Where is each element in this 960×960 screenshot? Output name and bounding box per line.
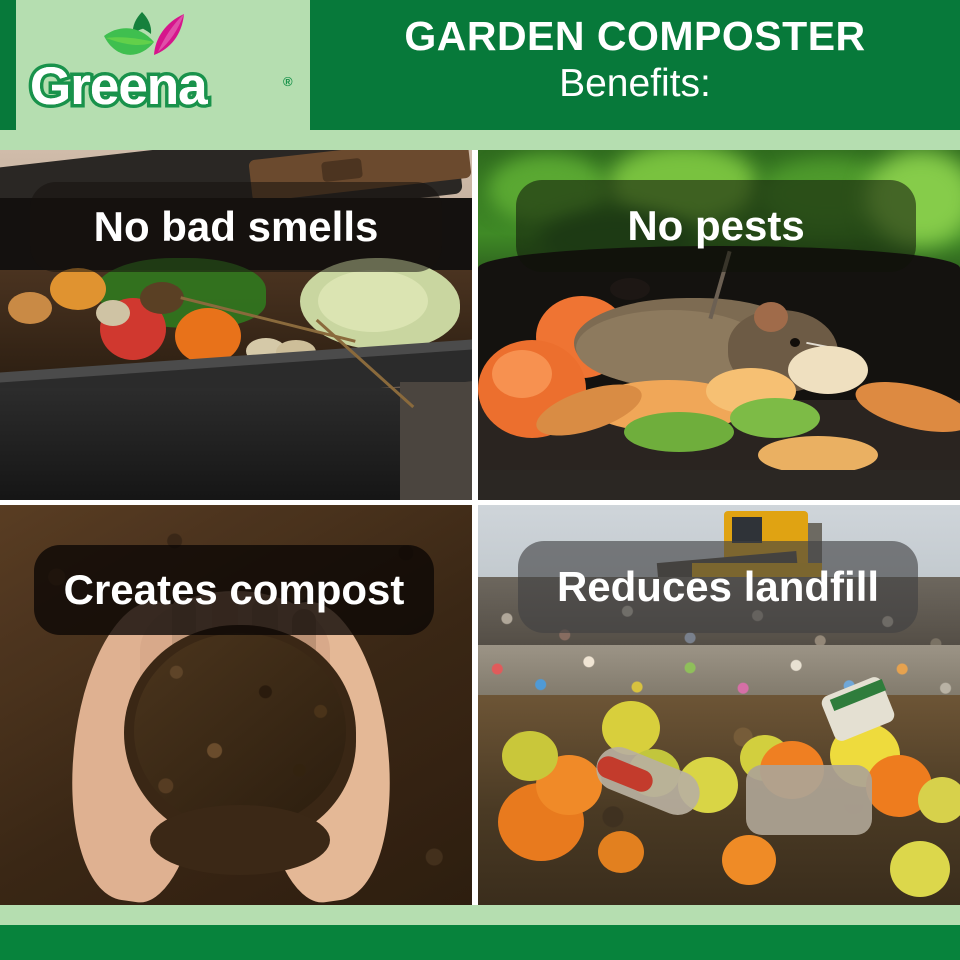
benefit-badge-no-bad-smells: No bad smells: [30, 182, 442, 272]
page-subtitle: Benefits:: [310, 64, 960, 103]
footer-light-band: [0, 905, 960, 925]
benefit-card-creates-compost[interactable]: Creates compost: [0, 505, 472, 905]
benefit-label: Reduces landfill: [557, 566, 879, 608]
footer-dark-band: [0, 925, 960, 960]
benefit-badge-reduces-landfill: Reduces landfill: [518, 541, 918, 633]
benefit-label: No bad smells: [94, 206, 379, 248]
benefit-card-reduces-landfill[interactable]: Reduces landfill: [478, 505, 960, 905]
benefit-label: Creates compost: [64, 569, 405, 611]
benefit-card-no-bad-smells[interactable]: No bad smells: [0, 150, 472, 500]
brand-wordmark: Greena Greena ®: [30, 56, 296, 118]
header-bar: Greena Greena ® GARDEN COMPOSTER Benefit…: [0, 0, 960, 130]
benefit-badge-no-pests: No pests: [516, 180, 916, 272]
header-title-panel: GARDEN COMPOSTER Benefits:: [310, 0, 960, 130]
registered-trademark-symbol: ®: [283, 74, 293, 89]
benefit-card-no-pests[interactable]: No pests: [478, 150, 960, 500]
brand-wordmark-fill: Greena: [30, 56, 280, 118]
header-left-accent-strip: [0, 0, 16, 130]
benefits-grid: No bad smells: [0, 150, 960, 905]
page-title: GARDEN COMPOSTER: [310, 16, 960, 57]
logo-plate: Greena Greena ®: [16, 0, 310, 130]
benefit-badge-creates-compost: Creates compost: [34, 545, 434, 635]
header-underline-band: [0, 130, 960, 150]
brand-logo: Greena Greena ®: [16, 0, 310, 130]
infographic-poster: Greena Greena ® GARDEN COMPOSTER Benefit…: [0, 0, 960, 960]
benefit-label: No pests: [627, 205, 804, 247]
